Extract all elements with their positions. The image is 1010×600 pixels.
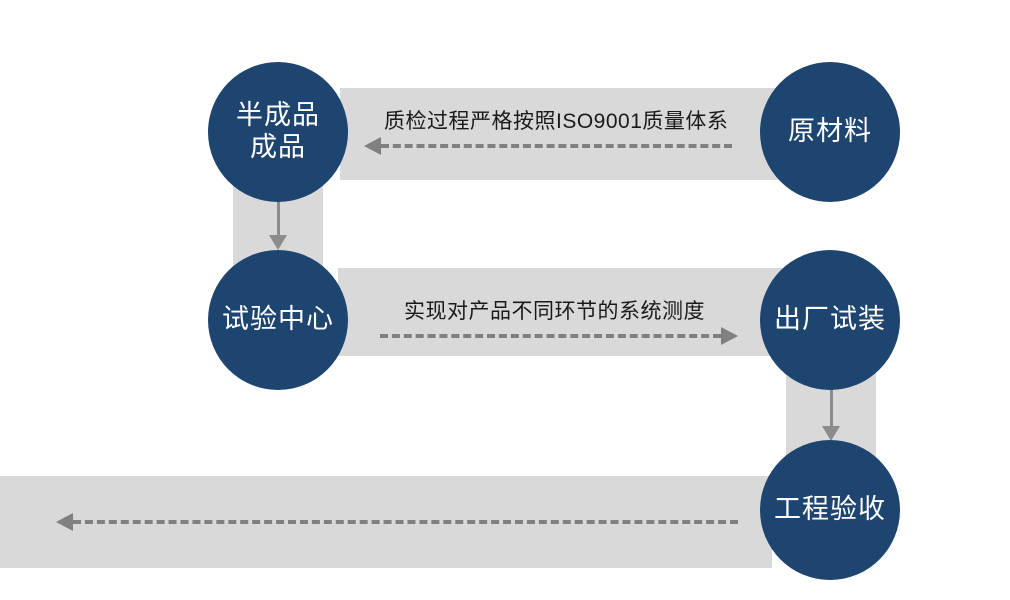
arrow-factory-to-acceptance — [824, 385, 838, 441]
arrow-shaft-dashed — [381, 144, 732, 148]
arrow-head-down-icon — [822, 426, 840, 441]
arrow-semi-to-test — [271, 196, 285, 250]
node-test-center[interactable]: 试验中心 — [208, 250, 348, 390]
node-test-center-label: 试验中心 — [222, 304, 334, 336]
arrow-head-down-icon — [269, 235, 287, 250]
node-semi-finished-line2: 成品 — [250, 132, 306, 164]
arrow-acceptance-loop-back — [56, 515, 738, 529]
arrow-shaft-solid — [830, 385, 833, 426]
flow-diagram-canvas: 质检过程严格按照ISO9001质量体系 实现对产品不同环节的系统测度 半成品 成… — [0, 0, 1010, 600]
arrow-head-left-icon — [364, 137, 381, 155]
connector-label-test-to-factory: 实现对产品不同环节的系统测度 — [404, 295, 705, 325]
node-factory-trial[interactable]: 出厂试装 — [760, 250, 900, 390]
connector-label-raw-to-semi: 质检过程严格按照ISO9001质量体系 — [384, 105, 728, 135]
node-raw-material[interactable]: 原材料 — [760, 62, 900, 202]
arrow-head-left-icon — [56, 513, 73, 531]
arrow-shaft-dashed — [380, 334, 721, 338]
arrow-raw-to-semi — [364, 139, 732, 153]
arrow-head-right-icon — [721, 327, 738, 345]
arrow-test-to-factory — [380, 329, 738, 343]
node-project-acceptance-label: 工程验收 — [774, 494, 886, 526]
node-semi-finished-line1: 半成品 — [236, 100, 320, 132]
node-raw-material-label: 原材料 — [788, 116, 872, 148]
arrow-shaft-dashed — [73, 520, 738, 524]
node-factory-trial-label: 出厂试装 — [774, 304, 886, 336]
node-semi-finished[interactable]: 半成品 成品 — [208, 62, 348, 202]
node-project-acceptance[interactable]: 工程验收 — [760, 440, 900, 580]
